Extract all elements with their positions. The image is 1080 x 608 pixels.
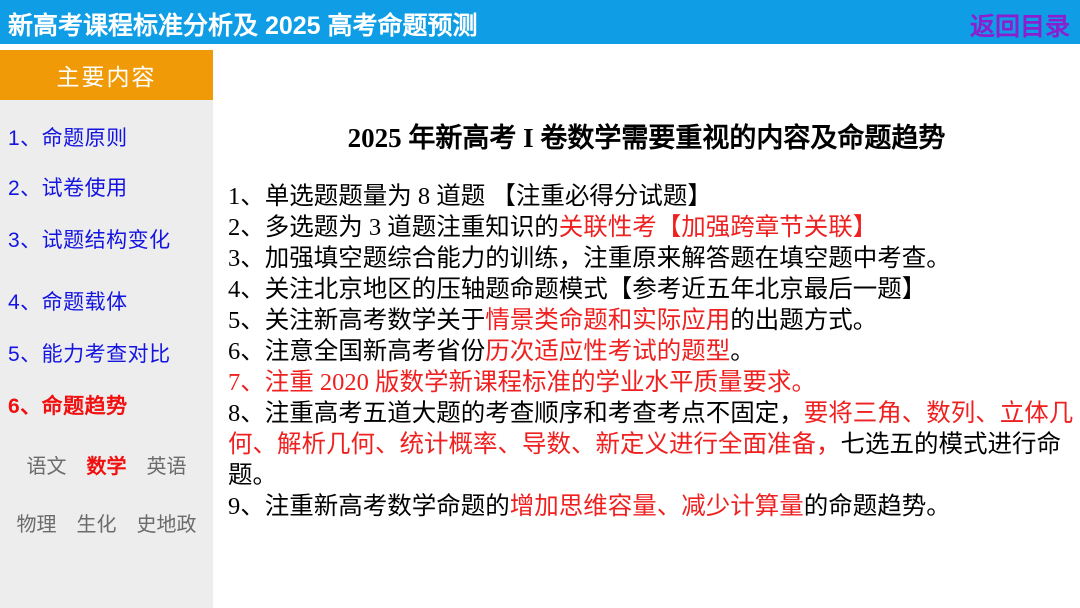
text-run-highlight: 增加思维容量、减少计算量 xyxy=(510,493,804,520)
sidebar-heading: 主要内容 xyxy=(0,50,213,100)
page-title: 新高考课程标准分析及 2025 高考命题预测 xyxy=(8,6,478,42)
slide-heading: 2025 年新高考 I 卷数学需要重视的内容及命题趋势 xyxy=(213,116,1080,155)
content-line-8: 8、注重高考五道大题的考查顺序和考查考点不固定，要将三角、数列、立体几何、解析几… xyxy=(228,398,1080,491)
subject-语文[interactable]: 语文 xyxy=(27,450,67,479)
subject-物理[interactable]: 物理 xyxy=(17,508,57,537)
text-run-normal: 5、关注新高考数学关于 xyxy=(228,307,485,334)
subject-row-2: 物理生化史地政 xyxy=(0,508,213,537)
text-run-normal: 6、注意全国新高考省份 xyxy=(228,338,485,365)
sidebar-item-6[interactable]: 6、命题趋势 xyxy=(8,390,213,420)
sidebar-item-label: 6、命题趋势 xyxy=(8,395,128,418)
text-run-highlight: 7、注重 2020 版数学新课程标准的学业水平质量要求。 xyxy=(228,369,816,396)
header-bar: 新高考课程标准分析及 2025 高考命题预测 返回目录 xyxy=(0,0,1080,44)
content-line-3: 3、加强填空题综合能力的训练，注重原来解答题在填空题中考查。 xyxy=(228,243,1080,274)
sidebar-item-label: 4、命题载体 xyxy=(8,291,128,314)
text-run-normal: 的出题方式。 xyxy=(730,307,877,334)
subject-row-1: 语文数学英语 xyxy=(0,450,213,479)
sidebar-item-1[interactable]: 1、命题原则 xyxy=(8,122,213,152)
text-run-highlight: 关联性考【加强跨章节关联】 xyxy=(559,214,878,241)
content-line-6: 6、注意全国新高考省份历次适应性考试的题型。 xyxy=(228,336,1080,367)
content-line-1: 1、单选题题量为 8 道题 【注重必得分试题】 xyxy=(228,181,1080,212)
subject-英语[interactable]: 英语 xyxy=(147,450,187,479)
content-line-2: 2、多选题为 3 道题注重知识的关联性考【加强跨章节关联】 xyxy=(228,212,1080,243)
sidebar-item-label: 5、能力考查对比 xyxy=(8,343,171,366)
text-run-highlight: 情景类命题和实际应用 xyxy=(485,307,730,334)
subject-数学[interactable]: 数学 xyxy=(87,450,127,479)
text-run-normal: 9、注重新高考数学命题的 xyxy=(228,493,510,520)
text-run-normal: 3、加强填空题综合能力的训练，注重原来解答题在填空题中考查。 xyxy=(228,245,951,272)
content-line-4: 4、关注北京地区的压轴题命题模式【参考近五年北京最后一题】 xyxy=(228,274,1080,305)
sidebar-item-label: 3、试题结构变化 xyxy=(8,229,171,252)
sidebar-item-5[interactable]: 5、能力考查对比 xyxy=(8,338,213,368)
content-line-9: 9、注重新高考数学命题的增加思维容量、减少计算量的命题趋势。 xyxy=(228,491,1080,522)
text-run-normal: 。 xyxy=(730,338,755,365)
slide-page: 新高考课程标准分析及 2025 高考命题预测 返回目录 主要内容 1、命题原则2… xyxy=(0,0,1080,608)
sidebar-item-2[interactable]: 2、试卷使用 xyxy=(8,172,213,202)
text-run-normal: 2、多选题为 3 道题注重知识的 xyxy=(228,214,559,241)
text-run-normal: 4、关注北京地区的压轴题命题模式【参考近五年北京最后一题】 xyxy=(228,276,926,303)
sidebar-item-4[interactable]: 4、命题载体 xyxy=(8,286,213,316)
text-run-highlight: 历次适应性考试的题型 xyxy=(485,338,730,365)
sidebar-item-label: 1、命题原则 xyxy=(8,127,128,150)
back-to-contents-link[interactable]: 返回目录 xyxy=(970,7,1070,43)
sidebar: 主要内容 1、命题原则2、试卷使用3、试题结构变化4、命题载体5、能力考查对比6… xyxy=(0,50,213,608)
subject-生化[interactable]: 生化 xyxy=(77,508,117,537)
content-line-5: 5、关注新高考数学关于情景类命题和实际应用的出题方式。 xyxy=(228,305,1080,336)
main-content: 2025 年新高考 I 卷数学需要重视的内容及命题趋势 1、单选题题量为 8 道… xyxy=(213,44,1080,608)
subject-史地政[interactable]: 史地政 xyxy=(137,508,197,537)
sidebar-item-label: 2、试卷使用 xyxy=(8,177,128,200)
text-run-normal: 8、注重高考五道大题的考查顺序和考查考点不固定， xyxy=(228,400,804,427)
text-run-normal: 1、单选题题量为 8 道题 【注重必得分试题】 xyxy=(228,183,712,210)
content-line-7: 7、注重 2020 版数学新课程标准的学业水平质量要求。 xyxy=(228,367,1080,398)
content-line-list: 1、单选题题量为 8 道题 【注重必得分试题】2、多选题为 3 道题注重知识的关… xyxy=(228,181,1080,522)
text-run-normal: 的命题趋势。 xyxy=(804,493,951,520)
sidebar-item-3[interactable]: 3、试题结构变化 xyxy=(8,224,213,254)
